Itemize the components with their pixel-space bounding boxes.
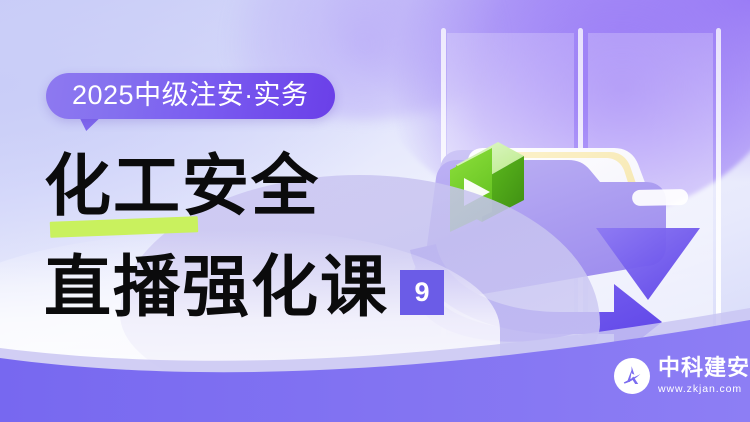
- zkjan-circle-mark-icon: [614, 358, 650, 394]
- title-line-2: 直播强化课: [44, 253, 389, 320]
- brand-url: www.zkjan.com: [658, 384, 750, 395]
- badge-pill: 2025中级注安·实务: [46, 73, 335, 119]
- title-line-1: 化工安全: [44, 152, 320, 219]
- logo-mark-svg: [618, 362, 646, 390]
- brand-logo: 中科建安 www.zkjan.com: [614, 358, 750, 395]
- episode-number-badge: 9: [400, 270, 444, 315]
- brand-logo-text: 中科建安 www.zkjan.com: [658, 358, 750, 395]
- course-poster: 2025中级注安·实务 化工安全 直播强化课 9 中科建安 www.zkjan.…: [0, 0, 750, 422]
- episode-number-label: 9: [414, 279, 429, 306]
- brand-name: 中科建安: [658, 358, 750, 380]
- folder-label-slot: [632, 189, 688, 206]
- badge-pill-label: 2025中级注安·实务: [72, 82, 309, 109]
